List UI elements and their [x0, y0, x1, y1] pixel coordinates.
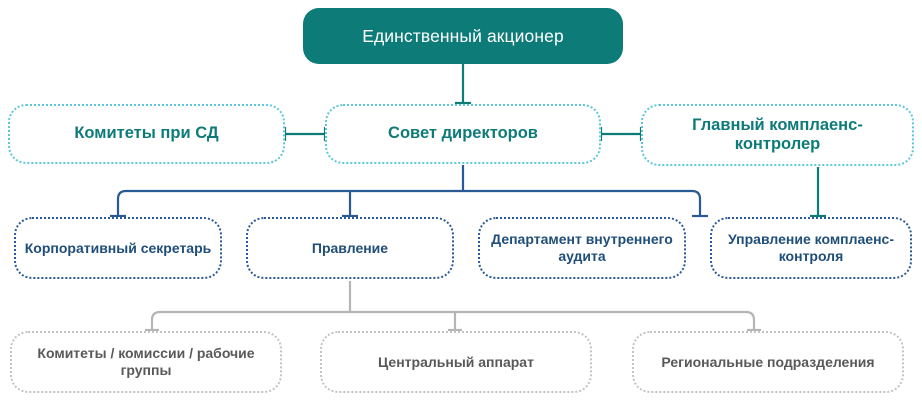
connector-chief-compliance-to-dept	[810, 167, 826, 216]
org-chart-canvas: Единственный акционер Комитеты при СД Со…	[0, 0, 922, 402]
node-board-of-directors[interactable]: Совет директоров	[325, 104, 601, 164]
connector-shareholder-to-board	[455, 64, 471, 103]
node-chief-compliance[interactable]: Главный комплаенс-контролер	[641, 104, 914, 166]
node-working-groups-label: Комитеты / комиссии / рабочие группы	[20, 345, 272, 378]
connector-board-bus-level3	[110, 165, 708, 216]
node-corporate-secretary-label: Корпоративный секретарь	[24, 240, 212, 257]
node-central-office[interactable]: Центральный аппарат	[320, 331, 592, 393]
node-committees-bod-label: Комитеты при СД	[18, 124, 275, 143]
node-shareholder[interactable]: Единственный акционер	[303, 8, 623, 64]
node-regional-units[interactable]: Региональные подразделения	[632, 331, 904, 393]
node-management-board-label: Правление	[256, 240, 444, 257]
node-chief-compliance-label: Главный комплаенс-контролер	[651, 116, 904, 155]
node-shareholder-label: Единственный акционер	[311, 26, 615, 47]
node-working-groups[interactable]: Комитеты / комиссии / рабочие группы	[10, 331, 282, 393]
node-compliance-dept[interactable]: Управление комплаенс-контроля	[710, 217, 912, 279]
node-management-board[interactable]: Правление	[246, 217, 454, 279]
node-internal-audit-label: Департамент внутреннего аудита	[488, 231, 676, 264]
node-central-office-label: Центральный аппарат	[330, 354, 582, 371]
node-compliance-dept-label: Управление комплаенс-контроля	[720, 231, 902, 264]
connector-management-bus-level4	[145, 281, 761, 330]
node-internal-audit[interactable]: Департамент внутреннего аудита	[478, 217, 686, 279]
node-board-of-directors-label: Совет директоров	[335, 124, 591, 143]
node-committees-bod[interactable]: Комитеты при СД	[8, 104, 285, 164]
node-regional-units-label: Региональные подразделения	[642, 354, 894, 371]
node-corporate-secretary[interactable]: Корпоративный секретарь	[14, 217, 222, 279]
connector-board-to-chief-compliance	[601, 127, 641, 141]
connector-board-to-committees	[285, 127, 325, 141]
